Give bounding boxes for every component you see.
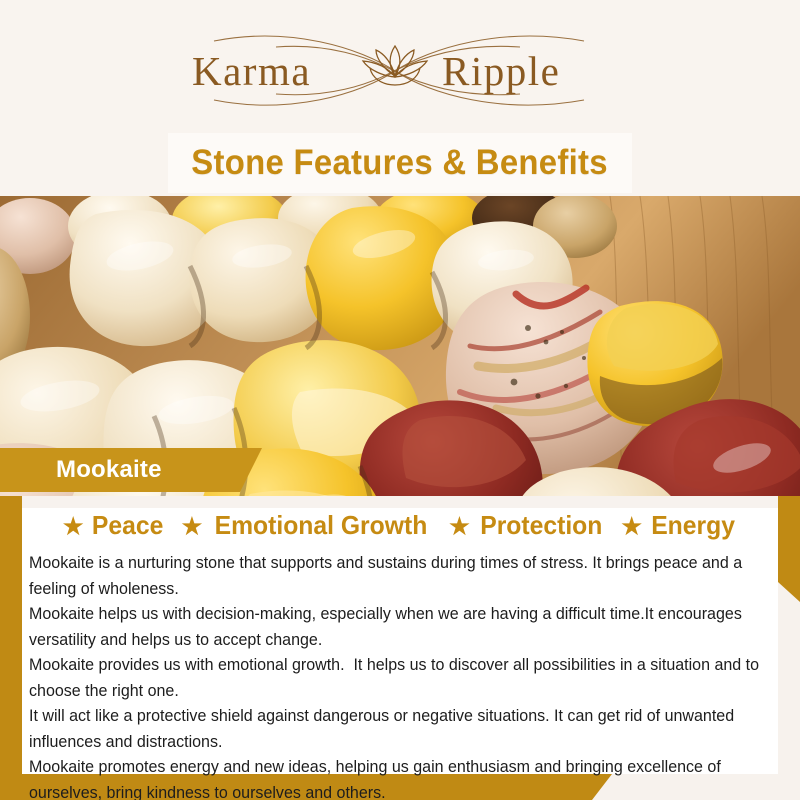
benefit-paragraph: Mookaite promotes energy and new ideas, …	[29, 755, 763, 800]
star-icon: ★	[449, 515, 470, 538]
star-icon: ★	[621, 515, 642, 538]
brand-name-left: Karma	[192, 48, 311, 94]
keyword-item-energy: ★ Energy	[621, 510, 737, 541]
headline-panel: Stone Features & Benefits	[168, 133, 632, 193]
star-icon: ★	[182, 515, 203, 538]
keyword-label: Protection	[480, 510, 602, 541]
stone-name-label: Mookaite	[56, 456, 162, 484]
panel-top-divider	[22, 496, 778, 508]
logo-zone: Karma Ripple	[0, 0, 800, 130]
page-title: Stone Features & Benefits	[192, 143, 609, 183]
brand-logo: Karma Ripple	[0, 26, 800, 116]
benefit-paragraph: Mookaite helps us with decision-making, …	[29, 602, 763, 653]
keyword-list: ★ Peace ★ Emotional Growth ★ Protection …	[22, 510, 778, 541]
lotus-flower-icon	[363, 46, 427, 85]
benefit-paragraph: It will act like a protective shield aga…	[29, 704, 763, 755]
infographic-card: Karma Ripple Stone Features & Benefits	[0, 0, 800, 800]
brand-logo-svg: Karma Ripple	[180, 28, 620, 114]
benefits-panel: ★ Peace ★ Emotional Growth ★ Protection …	[22, 496, 778, 774]
keyword-item-peace: ★ Peace	[63, 510, 166, 541]
star-icon: ★	[63, 515, 84, 538]
keyword-label: Peace	[92, 510, 163, 541]
brand-name-right: Ripple	[442, 48, 560, 94]
benefit-paragraph: Mookaite provides us with emotional grow…	[29, 653, 763, 704]
keyword-item-protection: ★ Protection	[449, 510, 605, 541]
benefit-paragraphs: Mookaite is a nurturing stone that suppo…	[29, 551, 774, 800]
keyword-item-emotional-growth: ★ Emotional Growth	[182, 510, 434, 541]
keyword-label: Emotional Growth	[215, 510, 428, 541]
stone-name-banner: Mookaite	[0, 448, 262, 492]
benefit-paragraph: Mookaite is a nurturing stone that suppo…	[29, 551, 763, 602]
keyword-label: Energy	[651, 510, 735, 541]
